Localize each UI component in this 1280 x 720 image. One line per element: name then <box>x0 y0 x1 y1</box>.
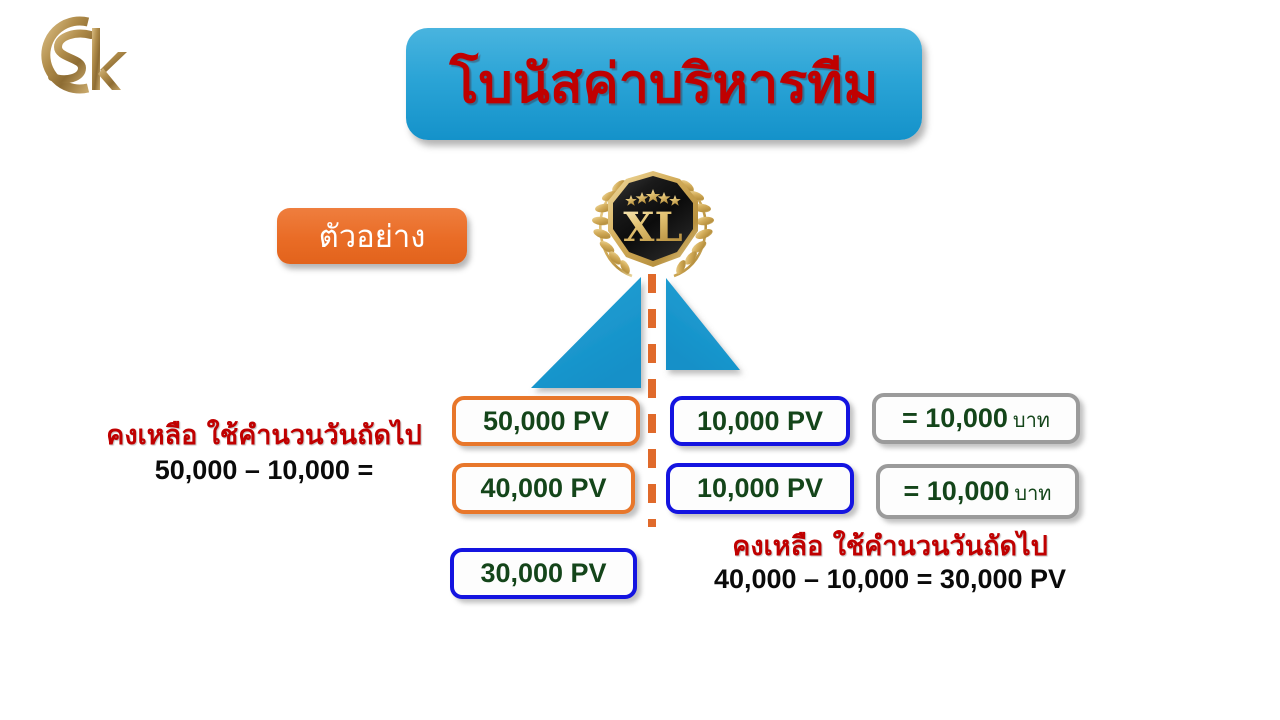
payout-box-label: = 10,000บาท <box>902 405 1050 432</box>
xl-rank-badge: XL <box>586 163 720 283</box>
title-banner: โบนัสค่าบริหารทีม <box>406 28 922 140</box>
value-box-label: 40,000 PV <box>480 475 606 502</box>
payout-box-label: = 10,000บาท <box>904 478 1052 505</box>
example-button-label: ตัวอย่าง <box>319 211 426 261</box>
right-downline-triangle <box>666 278 740 370</box>
value-box-10000-pv-second[interactable]: 10,000 PV <box>666 463 854 514</box>
xl-badge-icon: XL <box>586 163 720 283</box>
annotation-bottom-headline: คงเหลือ ใช้คำนวนวันถัดไป <box>655 533 1125 561</box>
value-box-label: 50,000 PV <box>483 408 609 435</box>
gsk-logo-icon <box>14 8 144 103</box>
payout-box-baht-second[interactable]: = 10,000บาท <box>876 464 1079 519</box>
payout-unit: บาท <box>1014 481 1051 505</box>
value-box-label: 30,000 PV <box>480 560 606 587</box>
value-box-label: 10,000 PV <box>697 408 823 435</box>
left-downline-triangle <box>531 277 641 388</box>
payout-box-baht-first[interactable]: = 10,000บาท <box>872 393 1080 444</box>
annotation-left: คงเหลือ ใช้คำนวนวันถัดไป 50,000 – 10,000… <box>78 422 450 485</box>
payout-amount: = 10,000 <box>904 476 1010 506</box>
value-box-50000-pv[interactable]: 50,000 PV <box>452 396 640 446</box>
payout-amount: = 10,000 <box>902 403 1008 433</box>
badge-label: XL <box>623 204 682 251</box>
payout-unit: บาท <box>1013 408 1050 432</box>
value-box-40000-pv[interactable]: 40,000 PV <box>452 463 635 514</box>
value-box-30000-pv[interactable]: 30,000 PV <box>450 548 637 599</box>
annotation-bottom: คงเหลือ ใช้คำนวนวันถัดไป 40,000 – 10,000… <box>655 533 1125 594</box>
brand-logo <box>14 8 144 103</box>
value-box-10000-pv-first[interactable]: 10,000 PV <box>670 396 850 446</box>
example-button[interactable]: ตัวอย่าง <box>277 208 467 264</box>
page-title: โบนัสค่าบริหารทีม <box>450 57 879 111</box>
annotation-bottom-equation: 40,000 – 10,000 = 30,000 PV <box>655 565 1125 593</box>
value-box-label: 10,000 PV <box>697 475 823 502</box>
slide-canvas: โบนัสค่าบริหารทีม ตัวอย่าง <box>0 0 1280 720</box>
annotation-left-equation: 50,000 – 10,000 = <box>78 456 450 484</box>
annotation-left-headline: คงเหลือ ใช้คำนวนวันถัดไป <box>78 422 450 450</box>
